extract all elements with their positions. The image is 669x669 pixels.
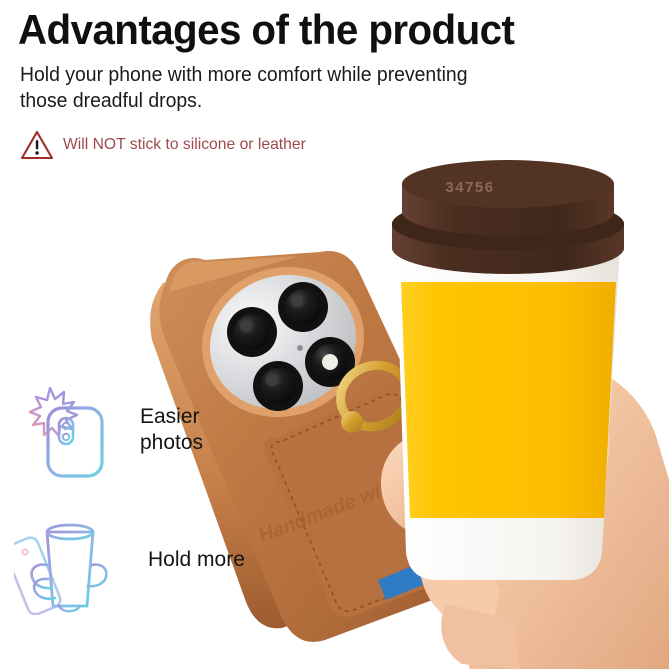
feature-label-line2: photos [140, 430, 203, 456]
feature-easier-photos: Easier photos [24, 382, 203, 478]
camera-lens [227, 307, 277, 357]
ring-holder-base [341, 411, 363, 433]
feature-hold-more: Hold more [14, 505, 245, 615]
camera-sensor-dot [297, 345, 303, 351]
feature-label-line1: Easier [140, 404, 203, 430]
camera-lens [278, 282, 328, 332]
feature-label-easier-photos: Easier photos [140, 404, 203, 455]
phone-camera-flash-icon [24, 382, 110, 478]
cup-sleeve [401, 282, 616, 518]
coffee-cup: 34756 [392, 160, 624, 580]
page-subtitle: Hold your phone with more comfort while … [20, 63, 476, 114]
phone-outline-icon [48, 408, 102, 476]
cup-lid-code: 34756 [445, 179, 494, 196]
cup-lid-top [402, 160, 614, 208]
cup-outline-icon [47, 532, 93, 606]
hand-holding-cup-phone-icon [14, 505, 124, 615]
product-advantages-graphic: Advantages of the product Hold your phon… [0, 0, 669, 669]
feature-label-hold-more: Hold more [148, 547, 245, 573]
feature-label-line1: Hold more [148, 547, 245, 573]
page-title: Advantages of the product [18, 8, 514, 53]
phone-behind-icon [14, 535, 63, 615]
camera-lens [253, 361, 303, 411]
